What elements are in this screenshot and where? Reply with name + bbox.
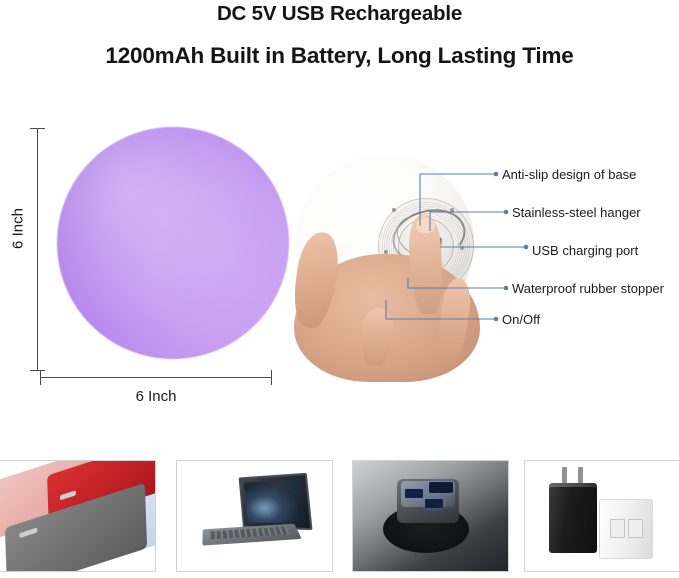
laptop-keyboard-keys [211, 527, 290, 540]
vertical-dimension-cap-top [30, 128, 45, 129]
leader-dot-hanger [504, 210, 509, 215]
callout-label-anti-slip: Anti-slip design of base [502, 167, 636, 183]
base-screw [450, 208, 454, 212]
callout-label-rubber-stopper: Waterproof rubber stopper [512, 281, 664, 297]
base-screw [392, 208, 396, 212]
laptop-screen-wallpaper [244, 479, 306, 523]
horizontal-dimension-line [40, 377, 272, 378]
height-dimension-label: 6 Inch [10, 199, 27, 259]
callout-label-hanger: Stainless-steel hanger [512, 205, 641, 221]
fingernail [416, 218, 435, 233]
leader-dot-anti-slip [494, 172, 499, 177]
callout-label-on-off: On/Off [502, 312, 540, 328]
thumbnail-power-banks [0, 460, 156, 572]
base-screw [460, 246, 464, 250]
headline-primary: DC 5V USB Rechargeable [0, 1, 679, 27]
width-dimension-label: 6 Inch [40, 388, 272, 405]
horizontal-dimension-cap-left [40, 370, 41, 385]
laptop-screen [239, 473, 313, 530]
infographic-canvas: DC 5V USB Rechargeable 1200mAh Built in … [0, 0, 679, 578]
leader-dot-stopper [504, 286, 509, 291]
car-charger-voltage-display [429, 482, 453, 493]
power-bank-port [19, 527, 37, 538]
product-photo-hand-holding-lamp [292, 158, 492, 383]
dimension-diagram: 6 Inch 6 Inch [0, 108, 300, 408]
car-charger-usb-slot [425, 499, 443, 508]
wall-adapter-white [599, 499, 653, 559]
headline-secondary: 1200mAh Built in Battery, Long Lasting T… [0, 42, 679, 70]
vertical-dimension-cap-bottom [30, 370, 45, 371]
wall-adapter-usb-port [610, 519, 625, 538]
laptop-keyboard-base [202, 524, 301, 546]
charging-options-thumbnail-strip [0, 460, 679, 578]
thumbnail-wall-adapter [524, 460, 679, 572]
vertical-dimension-line [37, 128, 38, 370]
wall-adapter-usb-port [628, 519, 643, 538]
sphere-highlight [57, 127, 289, 359]
wall-adapter-black [549, 487, 597, 553]
car-charger-usb-slot [405, 489, 423, 498]
horizontal-dimension-cap-right [271, 370, 272, 385]
power-bank-port [60, 490, 76, 500]
thumbnail-laptop [176, 460, 333, 572]
leader-dot-usb [524, 245, 529, 250]
leader-dot-onoff [494, 317, 499, 322]
callout-label-usb-port: USB charging port [532, 243, 638, 259]
thumbnail-car-charger [352, 460, 509, 572]
